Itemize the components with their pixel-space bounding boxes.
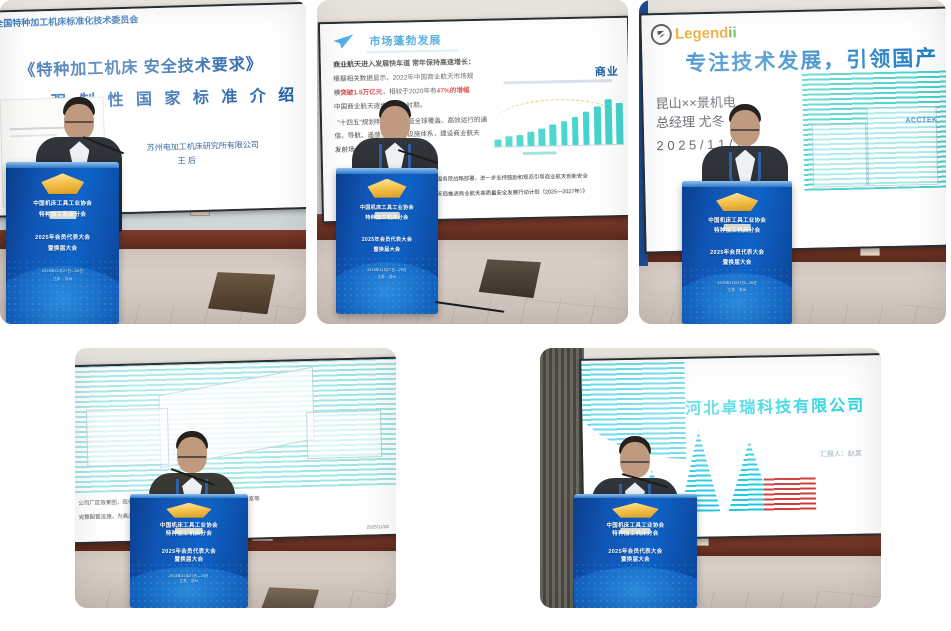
podium-globe-pattern xyxy=(682,267,793,324)
slide-body-line-1: 根据相关数据显示，2022年中国商业航天市场规 xyxy=(333,73,473,86)
podium-event-line-2: 暨换届大会 xyxy=(13,246,113,254)
skyline-pavilion xyxy=(764,477,817,511)
body-suffix: ，相较于2020年有 xyxy=(382,88,436,96)
podium-event-line-1: 2025年会员代表大会 xyxy=(137,549,242,557)
association-emblem-icon xyxy=(166,503,211,518)
speaker-glasses xyxy=(621,461,649,470)
emblem-inner xyxy=(724,224,751,231)
emblem-inner xyxy=(49,211,76,219)
slide-org: 苏州电加工机床研究所有限公司 xyxy=(146,140,258,154)
emblem-inner xyxy=(375,212,400,219)
chart-bars xyxy=(494,99,624,147)
podium-date-line-2: 江苏 · 苏州 xyxy=(13,277,113,282)
auditorium-scene: 全国特种加工机床标准化技术委员会 《特种加工机床 安全技术要求》 强 制 性 国… xyxy=(0,0,306,324)
market-bar-chart xyxy=(493,77,624,158)
podium-date-line-2: 江苏 · 苏州 xyxy=(137,579,242,584)
photo-gallery: 全国特种加工机床标准化技术委员会 《特种加工机床 安全技术要求》 强 制 性 国… xyxy=(0,0,951,631)
speaker-head xyxy=(730,110,760,146)
chart-legend xyxy=(523,152,557,156)
podium-top xyxy=(336,168,439,174)
podium-globe-pattern xyxy=(336,256,439,314)
emblem-inner xyxy=(621,528,650,534)
podium-date-line-2: 江苏 · 苏州 xyxy=(342,275,432,280)
podium-1: 中国机床工具工业协会 特种加工机床分会 2025年会员代表大会 暨换届大会 20… xyxy=(6,162,119,324)
podium-event-line-1: 2025年会员代表大会 xyxy=(581,549,689,557)
slide-company-title: 河北卓瑞科技有限公司 xyxy=(685,391,865,418)
slide-byline: 汇报人：赵某 xyxy=(820,448,862,459)
association-emblem-icon xyxy=(367,179,406,198)
speaker-glasses xyxy=(731,129,759,138)
emblem-inner xyxy=(175,528,204,534)
podium-top xyxy=(6,162,119,168)
speaker-head xyxy=(177,437,207,473)
podium-top xyxy=(682,181,793,187)
legend-logo: Legendii xyxy=(651,22,737,45)
auditorium-scene: 市场蓬勃发展 商业航天进入发展快车道 常年保持高速增长： 根据相关数据显示，20… xyxy=(317,0,628,324)
podium-event-line-2: 暨换届大会 xyxy=(689,260,786,268)
legend-word-main: Legend xyxy=(675,25,729,43)
legend-mark-icon xyxy=(651,24,672,45)
podium-top xyxy=(574,494,697,499)
body-highlight-1: 突破1.5万亿元 xyxy=(340,89,382,97)
stage-monitor xyxy=(208,272,275,314)
podium-date-line-1: 2025年11月27日—28日 xyxy=(689,281,786,286)
building-right-wing xyxy=(306,410,382,459)
association-emblem-icon xyxy=(716,193,758,212)
gallery-photo-3[interactable]: Legendii 专注技术发展，引领国产 昆山××景机电 总经理 尤冬 2 0 … xyxy=(639,0,946,324)
podium-3: 中国机床工具工业协会 特种加工机床分会 2025年会员代表大会 暨换届大会 20… xyxy=(682,181,793,324)
podium-globe-pattern xyxy=(130,562,249,608)
building-brand-label: ACCTEK xyxy=(905,117,937,125)
body-highlight-2: 47%的增幅 xyxy=(437,88,470,96)
section-underline xyxy=(367,49,459,53)
podium-event-line-1: 2025年会员代表大会 xyxy=(689,250,786,258)
podium-org-line-1: 中国机床工具工业协会 xyxy=(13,201,113,209)
auditorium-scene: 河北卓瑞科技有限公司 汇报人：赵某 xyxy=(540,348,881,608)
slide-section-title: 市场蓬勃发展 xyxy=(369,32,441,50)
company-building-render: ACCTEK xyxy=(802,69,946,190)
slide-lead: 商业航天进入发展快车道 常年保持高速增长： xyxy=(333,59,475,73)
podium-globe-pattern xyxy=(574,562,697,608)
podium-top xyxy=(130,494,249,499)
legend-glyph-icon xyxy=(656,29,667,40)
legend-wordmark: Legendii xyxy=(675,24,737,42)
slide-body-line-2: 模突破1.5万亿元，相较于2020年有47%的增幅 xyxy=(334,87,470,100)
auditorium-scene: Legendii 专注技术发展，引领国产 昆山××景机电 总经理 尤冬 2 0 … xyxy=(639,0,946,324)
gallery-photo-5[interactable]: 河北卓瑞科技有限公司 汇报人：赵某 xyxy=(540,348,881,608)
podium-2: 中国机床工具工业协会 特种加工机床分会 2025年会员代表大会 暨换届大会 20… xyxy=(336,168,439,314)
stage-monitor xyxy=(261,587,319,608)
podium-org-line-1: 中国机床工具工业协会 xyxy=(342,205,432,212)
podium-date-line-1: 2025年11月27日—28日 xyxy=(137,574,242,579)
association-emblem-icon xyxy=(612,503,659,518)
podium-event-line-1: 2025年会员代表大会 xyxy=(342,237,432,244)
slide-presenter: 王 后 xyxy=(177,156,196,168)
chart-title-placeholder xyxy=(504,80,612,85)
paper-plane-icon xyxy=(333,34,355,50)
podium-date-line-1: 2025年11月27日—28日 xyxy=(342,268,432,273)
podium-4: 中国机床工具工业协会 特种加工机床分会 2025年会员代表大会 暨换届大会 20… xyxy=(130,494,249,608)
slide-header: 全国特种加工机床标准化技术委员会 xyxy=(0,13,138,30)
building-block xyxy=(812,123,867,187)
auditorium-scene: 公司厂区效果图，现代化生产基地，拥有大型生产车间、办公楼、实验室等 完整配套设施… xyxy=(75,348,396,608)
podium-event-line-1: 2025年会员代表大会 xyxy=(13,235,113,243)
gallery-photo-1[interactable]: 全国特种加工机床标准化技术委员会 《特种加工机床 安全技术要求》 强 制 性 国… xyxy=(0,0,306,324)
podium-5: 中国机床工具工业协会 特种加工机床分会 2025年会员代表大会 暨换届大会 xyxy=(574,494,697,608)
legend-word-suffix: ii xyxy=(728,24,737,41)
slide-corner-note: 2025/11/28 xyxy=(367,524,389,530)
podium-event-line-2: 暨换届大会 xyxy=(137,557,242,565)
podium-event-line-2: 暨换届大会 xyxy=(581,557,689,565)
podium-date-line-1: 2025年11月27日—28日 xyxy=(13,269,113,274)
speaker-glasses xyxy=(178,456,206,465)
podium-event-line-2: 暨换届大会 xyxy=(342,247,432,254)
stage-monitor xyxy=(479,259,541,298)
speaker-head xyxy=(380,106,410,142)
gallery-photo-4[interactable]: 公司厂区效果图，现代化生产基地，拥有大型生产车间、办公楼、实验室等 完整配套设施… xyxy=(75,348,396,608)
association-emblem-icon xyxy=(41,173,84,194)
speaker-glasses xyxy=(65,121,93,130)
gallery-photo-2[interactable]: 市场蓬勃发展 商业航天进入发展快车道 常年保持高速增长： 根据相关数据显示，20… xyxy=(317,0,628,324)
slide-title-line-1: 《特种加工机床 安全技术要求》 xyxy=(19,50,263,81)
podium-date-line-2: 江苏 · 苏州 xyxy=(689,288,786,293)
